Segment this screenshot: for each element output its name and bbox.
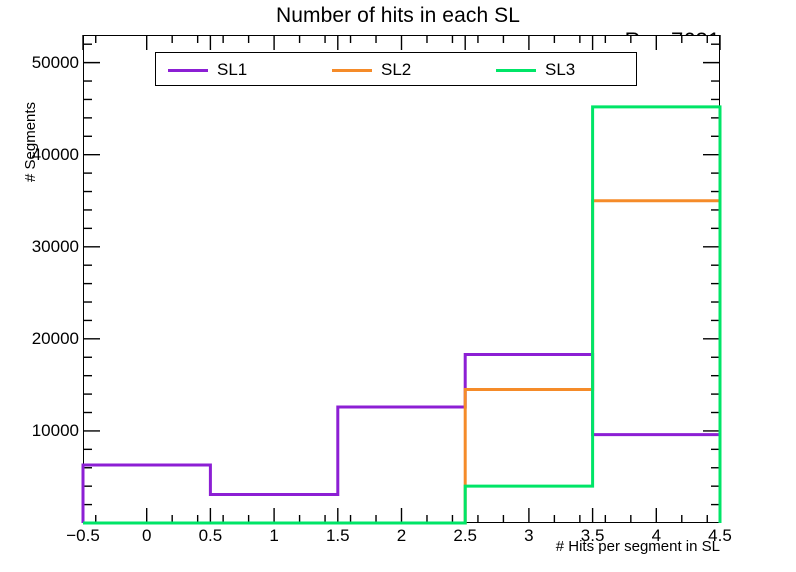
series-line-sl2	[83, 201, 720, 523]
legend-item-sl1[interactable]: SL1	[168, 53, 247, 87]
legend-label: SL1	[217, 60, 247, 80]
legend-label: SL2	[381, 60, 411, 80]
chart-canvas: Number of hits in each SL Run 7631 # Seg…	[0, 0, 796, 572]
legend-item-sl2[interactable]: SL2	[332, 53, 411, 87]
legend-item-sl3[interactable]: SL3	[496, 53, 575, 87]
legend-swatch-sl3	[496, 69, 536, 72]
legend-swatch-sl1	[168, 69, 208, 72]
legend-label: SL3	[545, 60, 575, 80]
series-line-sl3	[83, 107, 720, 523]
chart-legend: SL1SL2SL3	[155, 52, 637, 86]
series-line-sl1	[83, 355, 720, 523]
legend-swatch-sl2	[332, 69, 372, 72]
